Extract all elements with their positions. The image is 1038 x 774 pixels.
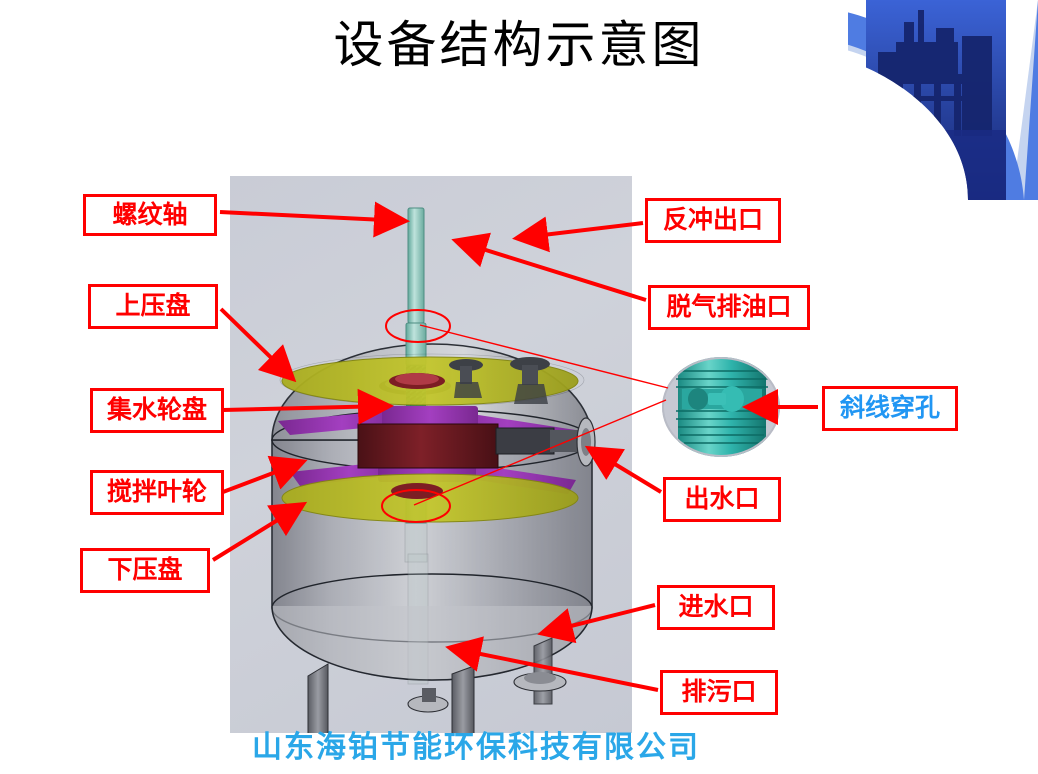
label-water-inlet-text: 进水口: [678, 595, 753, 620]
slide-canvas: 设备结构示意图: [0, 0, 1038, 774]
slant-perforation-detail: [662, 357, 780, 457]
label-slant-perforation-text: 斜线穿孔: [840, 396, 940, 421]
label-slant-perforation[interactable]: 斜线穿孔: [822, 386, 958, 431]
label-water-outlet-text: 出水口: [684, 487, 759, 512]
water-inlet-flange: [514, 672, 566, 691]
label-degas-oil-outlet-text: 脱气排油口: [666, 295, 791, 320]
label-threaded-shaft-text: 螺纹轴: [112, 203, 187, 228]
label-degas-oil-outlet[interactable]: 脱气排油口: [648, 285, 810, 330]
label-stirring-impeller-text: 搅拌叶轮: [107, 480, 207, 505]
label-water-outlet[interactable]: 出水口: [663, 477, 781, 522]
support-leg: [534, 638, 552, 704]
label-threaded-shaft[interactable]: 螺纹轴: [83, 194, 217, 236]
label-water-inlet[interactable]: 进水口: [657, 585, 775, 630]
label-backwash-outlet-text: 反冲出口: [663, 208, 763, 233]
sewage-outlet-flange: [408, 688, 448, 712]
label-backwash-outlet[interactable]: 反冲出口: [645, 198, 781, 243]
label-sewage-outlet[interactable]: 排污口: [660, 670, 778, 715]
label-water-collect-disc-text: 集水轮盘: [107, 398, 207, 423]
label-upper-press-plate[interactable]: 上压盘: [88, 284, 218, 329]
label-sewage-outlet-text: 排污口: [681, 680, 756, 705]
page-title: 设备结构示意图: [0, 14, 1038, 76]
label-water-collect-disc[interactable]: 集水轮盘: [90, 388, 224, 433]
label-lower-press-plate[interactable]: 下压盘: [80, 548, 210, 593]
company-name: 山东海铂节能环保科技有限公司: [252, 731, 700, 765]
label-stirring-impeller[interactable]: 搅拌叶轮: [90, 470, 224, 515]
lower-press-plate: [282, 474, 578, 522]
equipment-diagram-panel: [230, 176, 632, 733]
label-upper-press-plate-text: 上压盘: [115, 294, 190, 319]
support-leg: [292, 664, 344, 733]
label-lower-press-plate-text: 下压盘: [107, 558, 182, 583]
